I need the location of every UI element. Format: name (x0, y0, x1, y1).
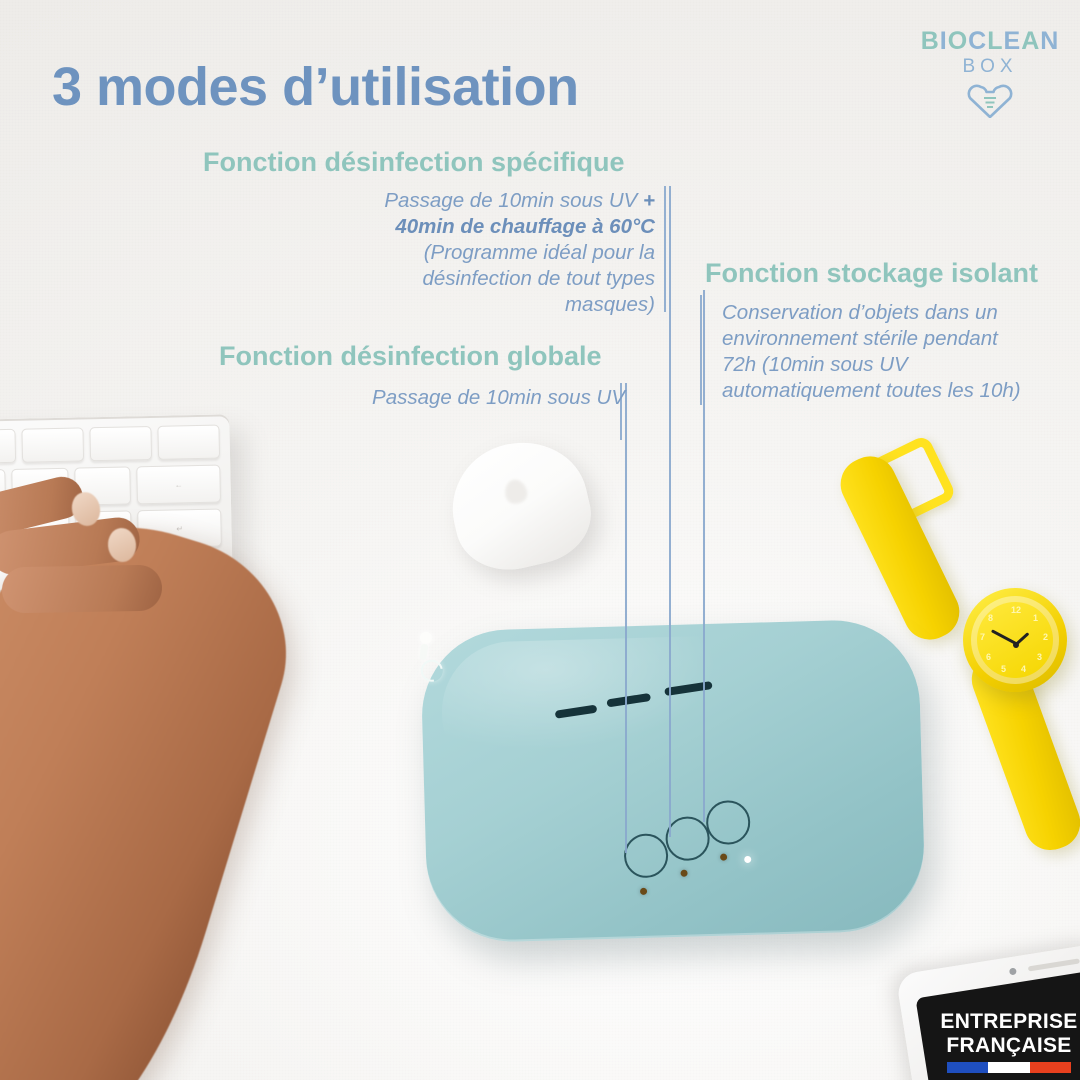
logo-letter: E (1004, 27, 1022, 55)
leader-line-specifique (669, 186, 671, 837)
finger (2, 565, 163, 614)
heading-globale: Fonction désinfection globale (219, 341, 602, 372)
heading-stockage: Fonction stockage isolant (705, 258, 1038, 289)
logo-subtitle: BOX (920, 56, 1060, 78)
led-indicator-uv (640, 888, 647, 895)
body-stockage: Conservation d’objets dans un environnem… (722, 300, 1022, 404)
bioclean-box-device (420, 618, 927, 944)
device-vent-dash (606, 693, 651, 707)
logo-letter: C (968, 27, 987, 55)
watch-numeral: 4 (1021, 664, 1026, 674)
heading-specifique: Fonction désinfection spécifique (203, 147, 625, 178)
device-vent-dash (555, 705, 598, 719)
watch-center-pin (1013, 642, 1019, 648)
entreprise-francaise-badge: ENTREPRISE FRANÇAISE (938, 1002, 1080, 1080)
watch-numeral: 7 (980, 632, 985, 642)
bioclean-box-logo: BIOCLEAN BOX (920, 28, 1060, 124)
button-heat[interactable] (665, 816, 710, 861)
keyboard-key (89, 426, 152, 461)
watch-numeral: 8 (988, 613, 993, 623)
watch-numeral: 3 (1037, 652, 1042, 662)
device-vent-dash (664, 681, 713, 696)
page-title: 3 modes d’utilisation (52, 56, 579, 118)
keyboard-key (21, 427, 84, 462)
led-indicator-power (744, 856, 751, 863)
yellow-wristwatch: 12 1 2 3 4 5 6 7 8 (963, 588, 1067, 692)
heart-icon (967, 84, 1013, 118)
led-indicator-heat (680, 870, 687, 877)
logo-letter: I (940, 27, 948, 55)
apple-logo-icon (502, 477, 529, 505)
badge-line-2: FRANÇAISE (946, 1034, 1071, 1057)
logo-letter: L (987, 27, 1003, 55)
button-uv[interactable] (623, 833, 668, 878)
flag-stripe-blue (947, 1062, 988, 1073)
badge-line-1: ENTREPRISE (940, 1010, 1077, 1033)
body-specifique: Passage de 10min sous UV + 40min de chau… (330, 188, 655, 318)
logo-wordmark: BIOCLEAN (920, 28, 1060, 54)
body-prefix: Passage de 10min sous UV (384, 189, 643, 212)
body-prefix: Conservation d’objets dans un environnem… (722, 301, 1021, 402)
keyboard-key (0, 429, 16, 464)
phone-camera-icon (1009, 967, 1017, 975)
french-flag-icon (947, 1062, 1071, 1073)
watch-numeral: 2 (1043, 632, 1048, 642)
watch-face: 12 1 2 3 4 5 6 7 8 (977, 602, 1053, 678)
watch-numeral: 1 (1033, 613, 1038, 623)
logo-letter: B (921, 27, 940, 55)
keyboard-key-backspace: ← (136, 465, 221, 505)
device-highlight (440, 634, 792, 787)
button-storage[interactable] (706, 800, 751, 845)
body-prefix: Passage de 10min sous UV (372, 386, 625, 409)
leader-line-stockage (703, 290, 705, 822)
text-divider-stockage (700, 295, 702, 405)
leader-line-globale (625, 383, 627, 853)
logo-letter: O (948, 27, 968, 55)
phone-speaker (1028, 958, 1080, 971)
keyboard-row (0, 425, 220, 466)
infographic-canvas: ← ↵ ▲ ▶ (0, 0, 1080, 1080)
logo-letter: N (1040, 27, 1059, 55)
watch-numeral: 5 (1001, 664, 1006, 674)
flag-stripe-red (1030, 1062, 1071, 1073)
text-divider-specifique (664, 186, 666, 312)
logo-letter: A (1021, 27, 1040, 55)
watch-numeral: 12 (1011, 605, 1021, 615)
body-globale: Passage de 10min sous UV (350, 385, 625, 411)
flag-stripe-white (988, 1062, 1029, 1073)
body-suffix: (Programme idéal pour la désinfection de… (423, 241, 656, 316)
led-indicator-storage (720, 854, 727, 861)
watch-numeral: 6 (986, 652, 991, 662)
keyboard-key (157, 425, 220, 460)
